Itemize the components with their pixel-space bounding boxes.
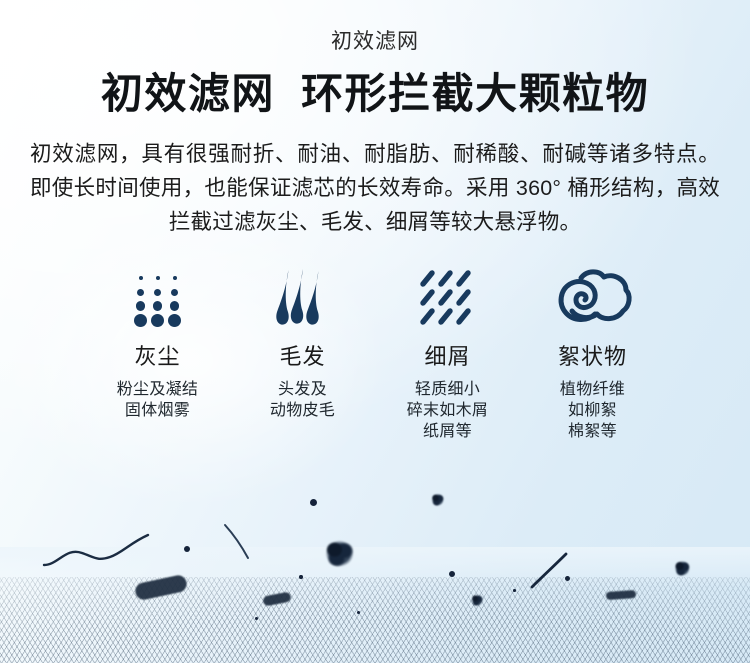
dot xyxy=(136,301,146,311)
floc-particle xyxy=(431,493,444,506)
dust-particle xyxy=(449,571,455,577)
debris-dashes-glyph xyxy=(417,270,479,328)
dot xyxy=(154,289,161,296)
dot xyxy=(171,289,178,296)
dot xyxy=(153,301,163,311)
fiber-strand xyxy=(222,523,268,563)
feature-desc: 头发及动物皮毛 xyxy=(270,379,335,421)
dust-particle xyxy=(513,589,516,592)
dust-particle xyxy=(310,499,317,506)
floc-particle xyxy=(674,560,690,576)
floc-particle xyxy=(324,539,354,567)
feature-title: 毛发 xyxy=(279,344,325,370)
dot xyxy=(173,276,177,280)
page-eyebrow: 初效滤网 xyxy=(0,29,750,55)
page-title: 初效滤网 环形拦截大颗粒物 xyxy=(0,69,750,119)
feature-row: 灰尘 粉尘及凝结固体烟雾 毛发 头发及动物皮毛 xyxy=(0,265,750,442)
lint-particle xyxy=(606,590,636,600)
lint-particle xyxy=(262,591,291,606)
feature-desc: 粉尘及凝结固体烟雾 xyxy=(117,379,199,421)
filter-mesh-surface xyxy=(0,577,750,663)
debris-dashes-icon xyxy=(417,265,479,333)
feature-item-dust: 灰尘 粉尘及凝结固体烟雾 xyxy=(85,265,230,442)
dot xyxy=(139,276,143,280)
header-section: 初效滤网 初效滤网 环形拦截大颗粒物 初效滤网，具有很强耐折、耐油、耐脂肪、耐稀… xyxy=(0,0,750,239)
product-detail-page: 初效滤网 初效滤网 环形拦截大颗粒物 初效滤网，具有很强耐折、耐油、耐脂肪、耐稀… xyxy=(0,0,750,663)
dot xyxy=(137,289,144,296)
dust-particle xyxy=(357,611,360,614)
feature-item-debris: 细屑 轻质细小碎末如木屑纸屑等 xyxy=(375,265,520,442)
floc-particle xyxy=(471,594,483,606)
page-description: 初效滤网，具有很强耐折、耐油、耐脂肪、耐稀酸、耐碱等诸多特点。即使长时间使用，也… xyxy=(30,137,720,239)
dust-particle xyxy=(184,546,190,552)
floc-cloud-glyph xyxy=(551,268,635,330)
floc-cloud-icon xyxy=(551,265,635,333)
dust-particle xyxy=(299,575,303,579)
feature-title: 细屑 xyxy=(424,344,470,370)
feature-title: 灰尘 xyxy=(134,344,180,370)
feature-item-floc: 絮状物 植物纤维如柳絮棉絮等 xyxy=(520,265,665,442)
dot-grid xyxy=(132,271,183,327)
feature-desc: 轻质细小碎末如木屑纸屑等 xyxy=(407,379,489,442)
dust-dots-icon xyxy=(132,265,183,333)
feature-title: 絮状物 xyxy=(558,344,627,370)
feature-desc: 植物纤维如柳絮棉絮等 xyxy=(560,379,625,442)
mesh-fade xyxy=(0,547,750,587)
dust-particle xyxy=(565,576,570,581)
dot xyxy=(151,314,164,327)
dot xyxy=(170,301,180,311)
fiber-strand xyxy=(40,531,160,571)
feature-item-hair: 毛发 头发及动物皮毛 xyxy=(230,265,375,442)
dot xyxy=(156,276,160,280)
fiber-strand xyxy=(512,551,572,595)
hair-strands-icon xyxy=(268,265,338,333)
dot xyxy=(134,314,147,327)
filter-mesh-scene xyxy=(0,463,750,663)
lint-particle xyxy=(134,574,188,601)
dot xyxy=(168,314,181,327)
dust-particle xyxy=(255,617,258,620)
hair-strands-glyph xyxy=(268,268,338,330)
